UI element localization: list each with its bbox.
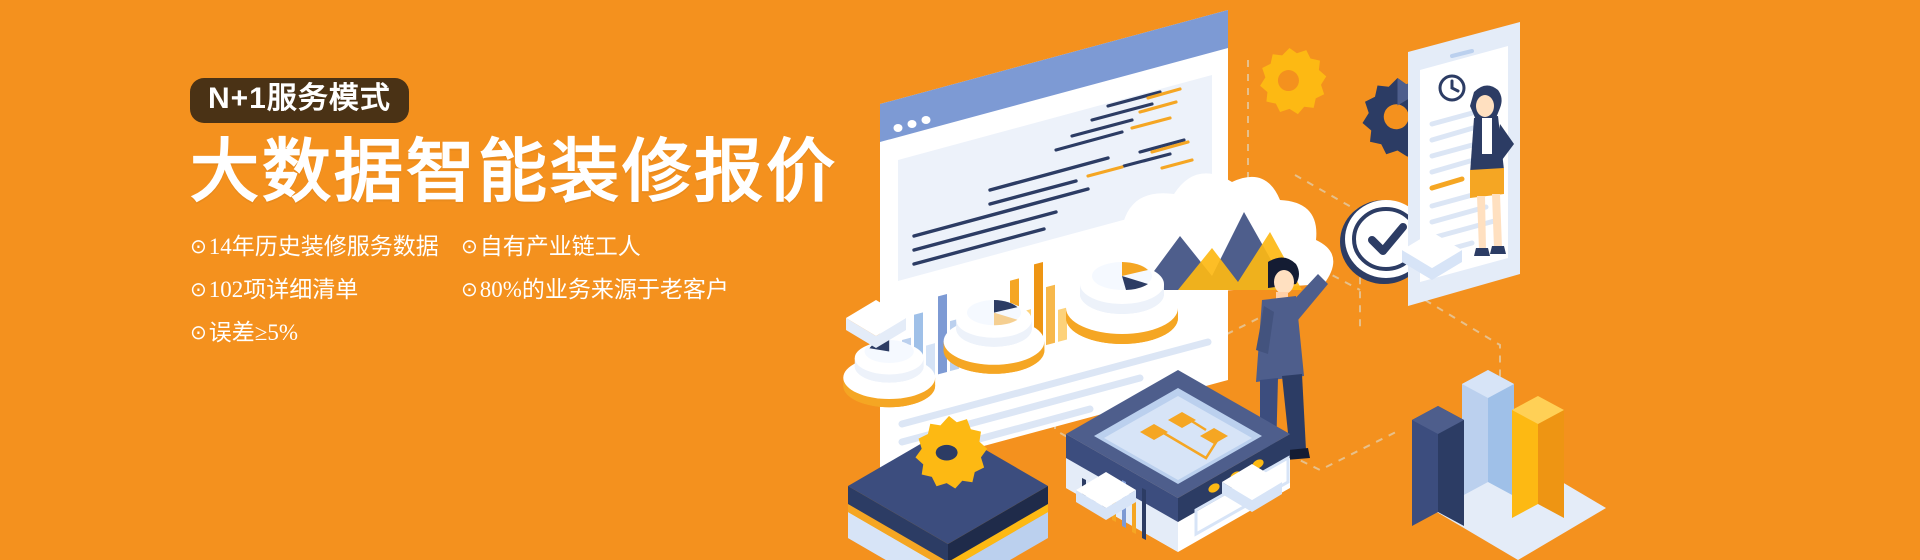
list-item: ⊙ 自有产业链工人 bbox=[461, 234, 761, 260]
list-item-label: 102项详细清单 bbox=[209, 277, 359, 303]
promo-banner: N+1服务模式 大数据智能装修报价 ⊙ 14年历史装修服务数据 ⊙ 102项详细… bbox=[0, 0, 1920, 560]
feature-bullets: ⊙ 14年历史装修服务数据 ⊙ 102项详细清单 ⊙ 误差≥5% ⊙ 自有产业链… bbox=[190, 234, 910, 347]
list-item-label: 14年历史装修服务数据 bbox=[209, 234, 439, 260]
service-model-badge: N+1服务模式 bbox=[190, 78, 409, 123]
bullet-dot-icon: ⊙ bbox=[461, 279, 478, 299]
page-title: 大数据智能装修报价 bbox=[190, 137, 910, 206]
bullet-column-right: ⊙ 自有产业链工人 ⊙ 80%的业务来源于老客户 bbox=[461, 234, 761, 304]
list-item: ⊙ 80%的业务来源于老客户 bbox=[461, 277, 761, 303]
bullet-dot-icon: ⊙ bbox=[190, 279, 207, 299]
list-item: ⊙ 102项详细清单 bbox=[190, 277, 435, 303]
list-item-label: 自有产业链工人 bbox=[480, 234, 641, 260]
bullet-dot-icon: ⊙ bbox=[461, 236, 478, 256]
list-item: ⊙ 14年历史装修服务数据 bbox=[190, 234, 435, 260]
bullet-dot-icon: ⊙ bbox=[190, 322, 207, 342]
gear-yellow-icon bbox=[1260, 48, 1326, 114]
bullet-dot-icon: ⊙ bbox=[190, 236, 207, 256]
bar-pillars bbox=[1412, 370, 1606, 560]
list-item-label: 误差≥5% bbox=[209, 320, 298, 346]
hexagon-gear-stack bbox=[848, 416, 1048, 560]
hero-illustration bbox=[840, 0, 1920, 560]
banner-text-block: N+1服务模式 大数据智能装修报价 ⊙ 14年历史装修服务数据 ⊙ 102项详细… bbox=[190, 78, 910, 347]
list-item-label: 80%的业务来源于老客户 bbox=[480, 277, 729, 303]
list-item: ⊙ 误差≥5% bbox=[190, 320, 435, 346]
bullet-column-left: ⊙ 14年历史装修服务数据 ⊙ 102项详细清单 ⊙ 误差≥5% bbox=[190, 234, 435, 347]
